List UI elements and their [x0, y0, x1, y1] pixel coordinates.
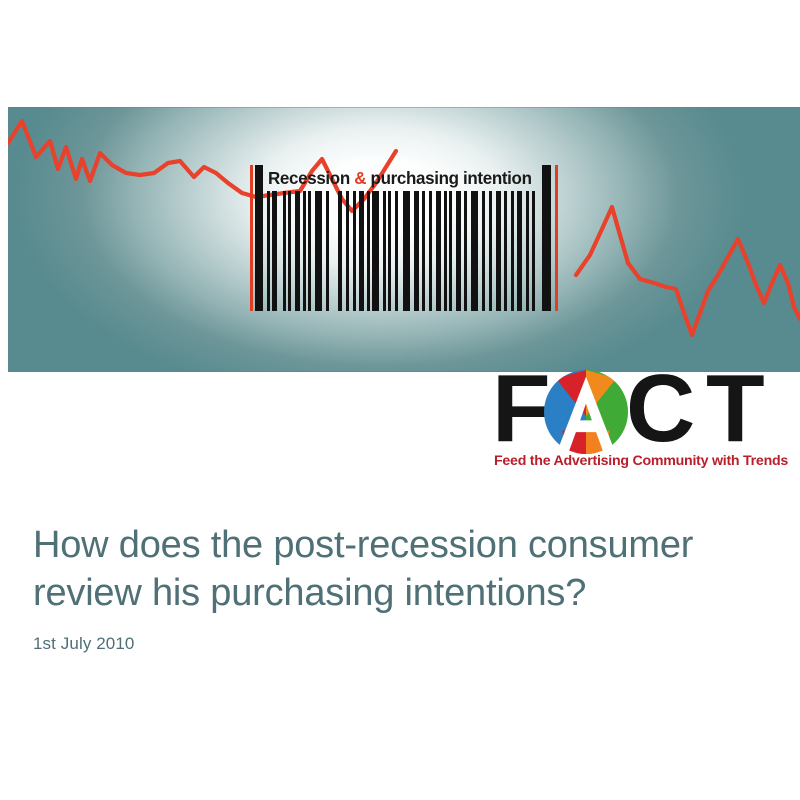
logo-letter-c: C: [626, 366, 692, 451]
fact-logo: F: [492, 366, 792, 476]
logo-a-circle-icon: [544, 370, 628, 454]
slide-date: 1st July 2010: [33, 633, 763, 655]
barcode-caption-part-2: purchasing intention: [366, 168, 531, 188]
barcode-caption-part-1: Recession: [268, 168, 354, 188]
slide-root: Recession & purchasing intention F: [0, 0, 800, 800]
fact-logo-tagline: Feed the Advertising Community with Tren…: [494, 452, 794, 470]
title-block: How does the post-recession consumer rev…: [33, 521, 763, 655]
slide-title: How does the post-recession consumer rev…: [33, 521, 763, 617]
recession-banner: Recession & purchasing intention: [8, 107, 800, 372]
logo-letter-t: T: [706, 366, 762, 451]
barcode-graphic: Recession & purchasing intention: [250, 165, 568, 311]
barcode-caption-ampersand: &: [354, 168, 366, 188]
fact-wordmark: F: [492, 366, 792, 451]
trend-line-right: [576, 207, 800, 335]
barcode-caption: Recession & purchasing intention: [268, 165, 542, 191]
logo-letter-f: F: [492, 366, 548, 451]
